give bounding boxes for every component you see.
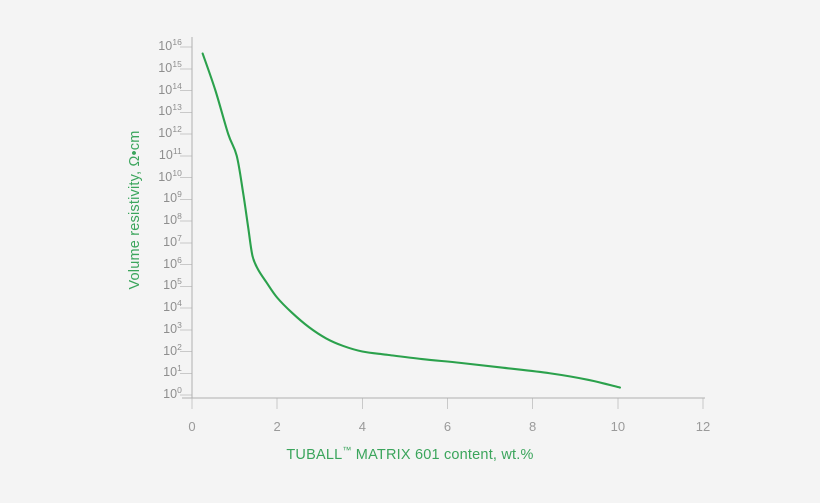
data-series-line xyxy=(203,54,620,388)
plot-area xyxy=(0,0,820,503)
trademark-icon: ™ xyxy=(342,445,351,455)
x-axis-title: TUBALL™ MATRIX 601 content, wt.% xyxy=(0,447,820,463)
x-axis-ticks xyxy=(192,398,703,409)
chart-container: Volume resistivity, Ω•cm 101610151014101… xyxy=(0,0,820,503)
y-axis-ticks xyxy=(180,47,192,395)
x-axis-title-prefix: TUBALL xyxy=(286,447,342,463)
x-axis-title-suffix: MATRIX 601 content, wt.% xyxy=(352,447,534,463)
